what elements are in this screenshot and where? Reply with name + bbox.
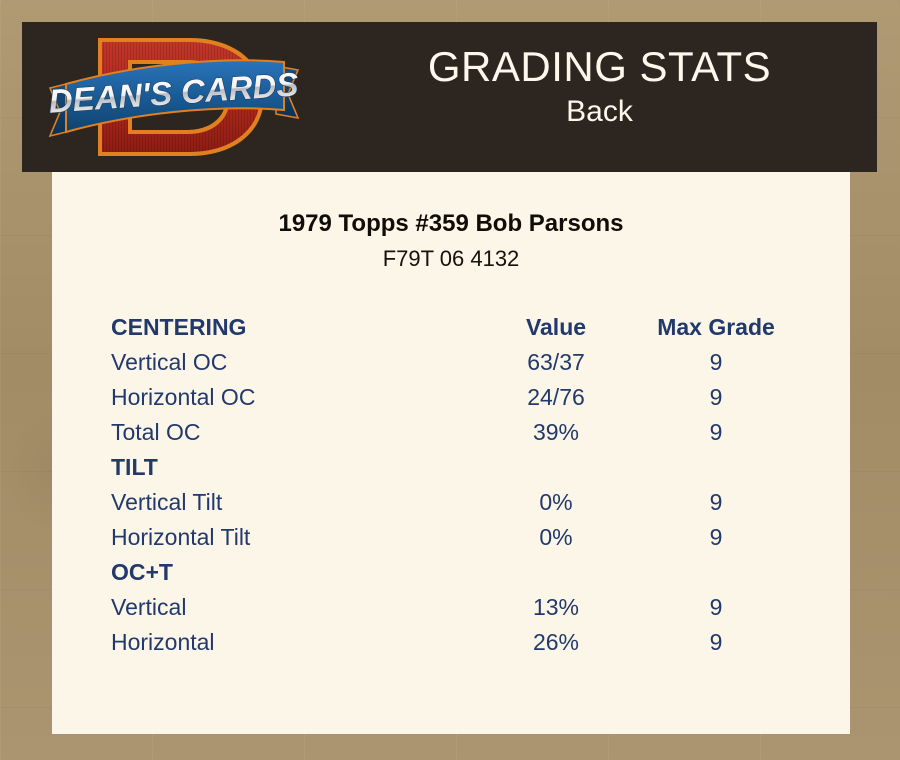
table-section-header: CENTERINGValueMax Grade [111, 310, 791, 345]
section-title: OC+T [111, 555, 471, 590]
stat-max-grade: 9 [641, 590, 791, 625]
stat-value: 0% [471, 520, 641, 555]
card-serial-number: F79T 06 4132 [52, 246, 850, 272]
stat-max-grade: 9 [641, 485, 791, 520]
table-row: Total OC39%9 [111, 415, 791, 450]
table-row: Vertical Tilt0%9 [111, 485, 791, 520]
table-section-header: TILT [111, 450, 791, 485]
deans-cards-logo[interactable]: DEAN'S CARDS [40, 26, 308, 168]
section-spacer-value [471, 450, 641, 485]
stat-label: Horizontal [111, 625, 471, 660]
stat-value: 39% [471, 415, 641, 450]
header-bar: DEAN'S CARDS GRADING STATS Back [22, 22, 877, 172]
table-section-header: OC+T [111, 555, 791, 590]
grading-stats-table: CENTERINGValueMax GradeVertical OC63/379… [111, 310, 791, 660]
stat-label: Vertical Tilt [111, 485, 471, 520]
stat-max-grade: 9 [641, 415, 791, 450]
column-header-value: Value [471, 310, 641, 345]
section-title: TILT [111, 450, 471, 485]
content-panel: 1979 Topps #359 Bob Parsons F79T 06 4132… [52, 172, 850, 734]
table-row: Horizontal Tilt0%9 [111, 520, 791, 555]
table-row: Vertical13%9 [111, 590, 791, 625]
stat-label: Horizontal Tilt [111, 520, 471, 555]
stat-label: Vertical OC [111, 345, 471, 380]
table-row: Horizontal OC24/769 [111, 380, 791, 415]
stat-label: Total OC [111, 415, 471, 450]
section-spacer-grade [641, 450, 791, 485]
stat-label: Vertical [111, 590, 471, 625]
stat-max-grade: 9 [641, 345, 791, 380]
stat-value: 24/76 [471, 380, 641, 415]
page-title: GRADING STATS [322, 42, 877, 92]
stat-value: 63/37 [471, 345, 641, 380]
logo-ribbon: DEAN'S CARDS [48, 60, 300, 136]
stat-max-grade: 9 [641, 625, 791, 660]
section-spacer-grade [641, 555, 791, 590]
section-title: CENTERING [111, 310, 471, 345]
table-row: Horizontal26%9 [111, 625, 791, 660]
column-header-grade: Max Grade [641, 310, 791, 345]
grading-stats-body: CENTERINGValueMax GradeVertical OC63/379… [111, 310, 791, 660]
page-subtitle: Back [322, 92, 877, 132]
stat-max-grade: 9 [641, 380, 791, 415]
header-titles: GRADING STATS Back [322, 42, 877, 132]
stat-max-grade: 9 [641, 520, 791, 555]
table-row: Vertical OC63/379 [111, 345, 791, 380]
card-title: 1979 Topps #359 Bob Parsons [52, 210, 850, 238]
stat-label: Horizontal OC [111, 380, 471, 415]
stat-value: 26% [471, 625, 641, 660]
stat-value: 13% [471, 590, 641, 625]
stat-value: 0% [471, 485, 641, 520]
section-spacer-value [471, 555, 641, 590]
